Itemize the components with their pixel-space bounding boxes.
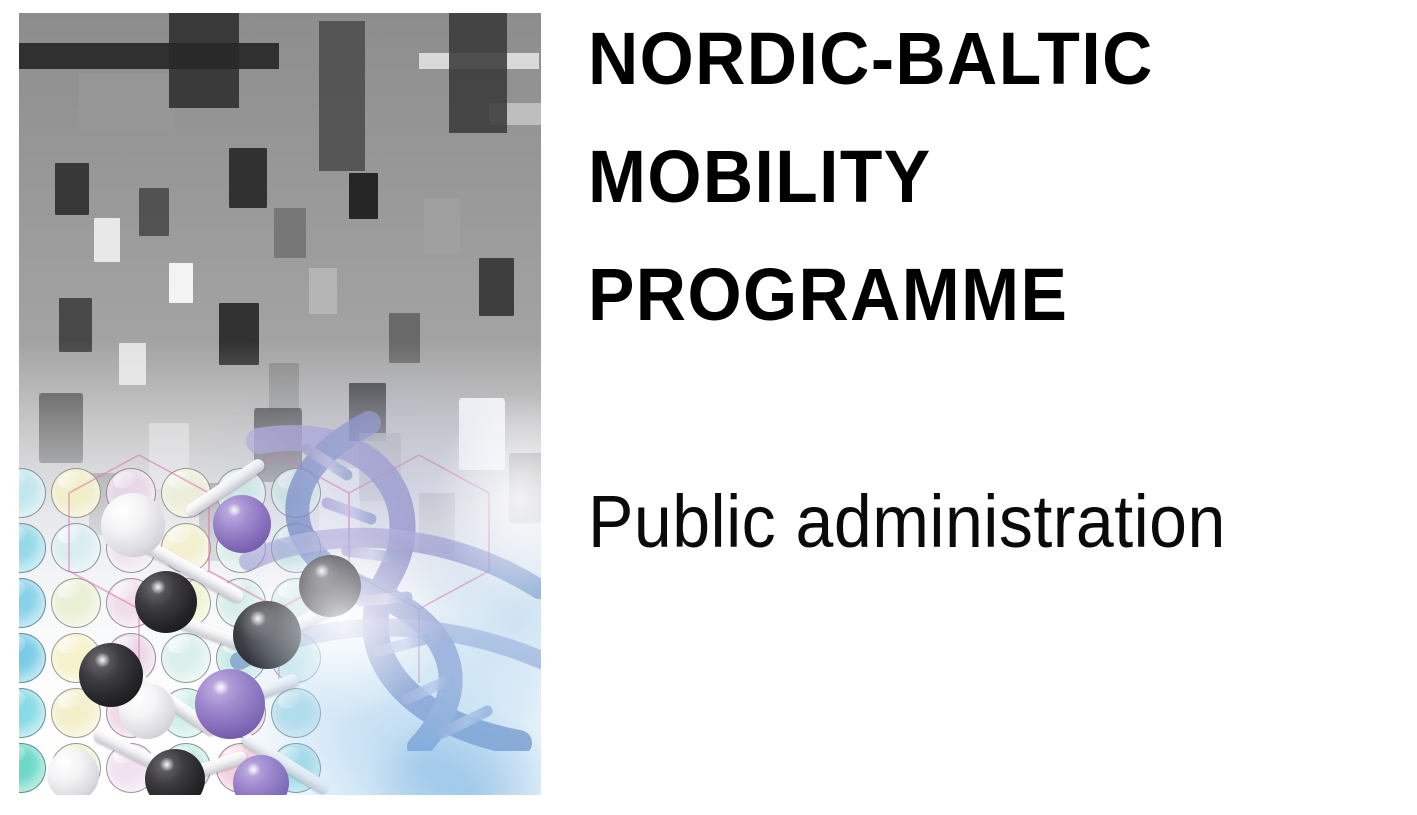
molecule-atom-carbon (135, 571, 197, 633)
headline-line-3: PROGRAMME (588, 236, 1321, 354)
page-subtitle: Public administration (588, 479, 1226, 565)
headline-line-1: NORDIC-BALTIC (588, 0, 1321, 118)
molecule-atom-carbon (145, 749, 205, 795)
molecule-atom-hydrogen (101, 493, 165, 557)
molecule-atom-carbon (79, 643, 143, 707)
molecule-model (37, 463, 367, 795)
molecule-atom-carbon (299, 555, 361, 617)
headline-line-2: MOBILITY (588, 118, 1321, 236)
page-title: NORDIC-BALTIC MOBILITY PROGRAMME (588, 0, 1368, 354)
hero-image (19, 13, 541, 795)
molecule-atom-nitrogen (195, 669, 265, 739)
text-block: NORDIC-BALTIC MOBILITY PROGRAMME Public … (588, 0, 1368, 815)
slide-canvas: NORDIC-BALTIC MOBILITY PROGRAMME Public … (0, 0, 1417, 815)
molecule-atom-hydrogen (47, 749, 99, 795)
molecule-atom-carbon (233, 601, 301, 669)
molecule-atom-nitrogen (213, 495, 271, 553)
